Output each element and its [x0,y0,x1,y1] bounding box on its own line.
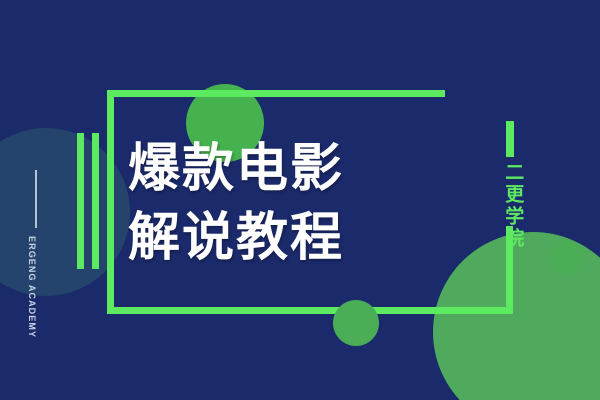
headline-line-1: 爆款电影 [128,142,428,197]
poster-canvas: ERGENG ACADEMY 二更学院 爆款电影 解说教程 [0,0,600,400]
green-circle-right-small-decor [550,240,584,274]
brand-vertical-label: 二更学院 [500,162,525,250]
watermark-label: ERGENG ACADEMY [27,236,36,338]
teal-circle-decor [0,128,130,296]
accent-bar-one [77,133,84,269]
watermark-rule [35,170,37,228]
frame-top-segment [107,90,445,97]
headline-block: 爆款电影 解说教程 [128,104,428,304]
green-tick-icon [506,121,514,157]
headline-line-2: 解说教程 [128,211,428,266]
accent-bar-two [92,133,99,269]
green-circle-bottom-center-decor [333,300,379,346]
